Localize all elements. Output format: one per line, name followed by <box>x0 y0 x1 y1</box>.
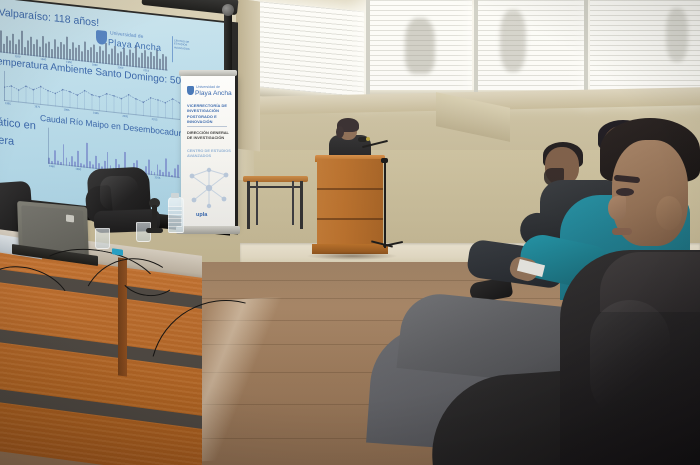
chart-axis <box>48 128 49 164</box>
window-mullion <box>474 0 478 96</box>
chart-bar <box>54 150 56 164</box>
window-mullion <box>366 0 370 96</box>
desk-microphone-base <box>146 228 163 233</box>
chart-bar <box>72 42 74 60</box>
chart-bar <box>12 34 14 54</box>
chart-bar <box>54 39 56 59</box>
banner-base <box>176 226 240 234</box>
shield-icon <box>96 30 107 45</box>
chart-bar <box>0 30 2 52</box>
jacket-highlight <box>590 300 670 420</box>
side-table-leg <box>256 181 258 225</box>
laptop-badge <box>66 215 74 223</box>
window-mullion <box>584 0 588 96</box>
window-shadow <box>666 8 688 62</box>
chart-bar <box>86 143 88 168</box>
slide-logo-line2: Playa Ancha <box>108 37 161 53</box>
microphone-tip <box>366 137 370 141</box>
chart-bar <box>165 159 167 177</box>
banner-logo-line1: Universidad de <box>196 85 220 89</box>
microphone-stand <box>384 160 386 248</box>
chart-tick-label: 2015 <box>155 176 161 180</box>
shield-icon <box>187 86 194 95</box>
podium-seam <box>317 218 383 220</box>
water-glass <box>95 228 110 249</box>
window-shadow <box>405 18 435 74</box>
chart-tick-label: 1975 <box>34 105 40 109</box>
window-pane <box>476 0 588 96</box>
chart-bar <box>84 41 86 61</box>
chart-bar <box>48 42 50 58</box>
slide-left-text-1: ...nático en <box>0 114 36 132</box>
chart-bar <box>90 47 92 62</box>
wooden-podium <box>317 159 383 250</box>
chart-bar <box>63 144 65 165</box>
slide-left-text-2: ...tera <box>0 133 14 148</box>
presenter-hair <box>336 126 344 138</box>
chart-tick-label: 2015 <box>152 118 158 122</box>
chart-bar <box>36 39 38 57</box>
chart-tick-label: 1990 <box>75 168 81 172</box>
side-table-top <box>243 176 308 182</box>
chart-bar <box>66 37 68 60</box>
bottle-ribs <box>168 206 182 228</box>
chart-bar <box>148 159 150 174</box>
chart-tick-label: 2005 <box>122 115 128 119</box>
podium-shadow <box>306 252 398 260</box>
banner-logo-line2: Playa Ancha <box>195 90 232 97</box>
chart-bar <box>27 41 29 56</box>
chart-bar <box>77 150 79 167</box>
chart-bar <box>78 45 80 61</box>
chart-bar <box>30 37 32 56</box>
banner-divider <box>187 126 227 127</box>
chart-tick-label: 1995 <box>93 112 99 116</box>
chart-bar <box>18 39 20 54</box>
molecule-network-icon <box>184 166 234 210</box>
chart-bar <box>6 36 8 53</box>
chart-axis <box>4 71 5 101</box>
chart-bar <box>60 42 62 59</box>
banner-footer-logo: upla <box>196 212 207 218</box>
banner-block-vicerrectoria: VICERRECTORÍA DE INVESTIGACIÓN POSTGRADO… <box>187 103 233 125</box>
window-shadow <box>500 10 526 72</box>
side-table-leg <box>292 181 294 225</box>
podium-seam <box>317 188 383 190</box>
banner-block-direccion: DIRECCIÓN GENERAL DE INVESTIGACIÓN <box>187 130 233 141</box>
bottle-cap <box>171 193 179 198</box>
side-table-leg <box>300 181 303 229</box>
chart-bar <box>42 36 44 57</box>
banner-block-centro: CENTRO DE ESTUDIOS AVANZADOS <box>187 148 233 159</box>
chart-bar <box>63 45 65 60</box>
slide-logo-side-text: CENTRO DE ESTUDIOS AVANZADOS <box>174 39 194 51</box>
screen-roller-knob[interactable] <box>222 4 234 16</box>
audience-lips <box>612 228 632 235</box>
presentation-photo: en Valparaíso: 118 años! 190019201940196… <box>0 0 700 465</box>
audience-eye <box>616 188 634 196</box>
chair-highlight <box>100 176 138 210</box>
microphone-clamp <box>381 158 388 163</box>
chart-tick-label: 1985 <box>64 108 70 112</box>
chart-bar <box>21 31 23 55</box>
audience-nose <box>608 196 626 220</box>
side-table-leg <box>247 181 250 229</box>
chart-tick-label: 1965 <box>5 102 11 106</box>
window-pane <box>252 1 364 98</box>
audience-ear <box>656 196 682 230</box>
chart-tick-label: 1980 <box>49 165 55 169</box>
